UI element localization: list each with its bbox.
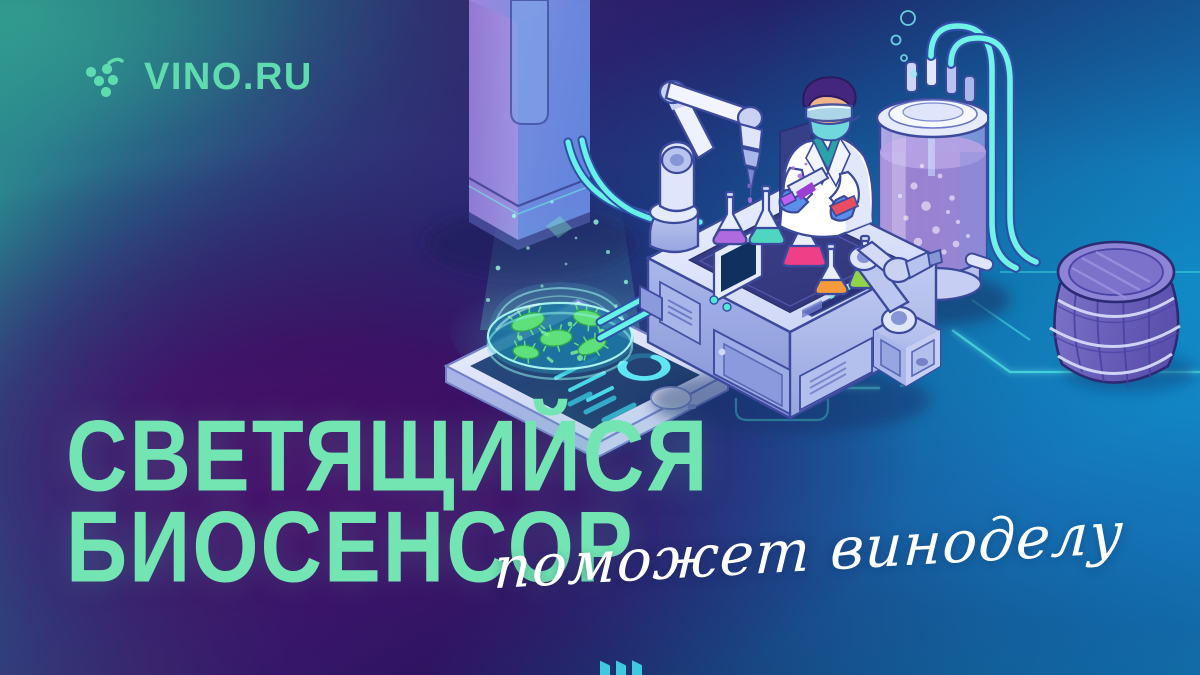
poster-canvas: VINO.RU СВЕТЯЩИЙСЯ БИОСЕНСОР поможет вин… [0,0,1200,675]
grape-cluster-icon [82,52,128,102]
wine-barrel [1050,242,1196,392]
brand-logo[interactable]: VINO.RU [82,52,313,102]
logo-wordmark: VINO.RU [144,58,313,96]
scientist [780,77,873,237]
